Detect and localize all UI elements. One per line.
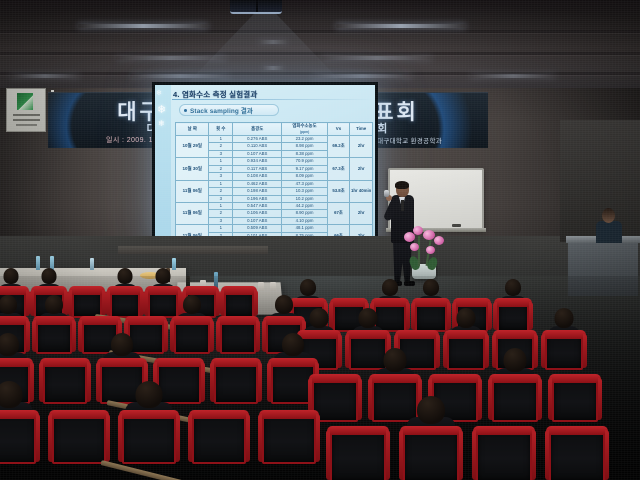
seat-side-right <box>201 362 205 402</box>
cell-absorbance: 0.198 ABS <box>233 188 282 195</box>
cell-time: 2hr <box>350 136 373 158</box>
seat-side-right <box>72 320 76 352</box>
seat-side-right <box>538 378 542 420</box>
col-header-count: 횟 수 <box>209 123 233 136</box>
cell-time: 1hr 40min <box>350 180 373 202</box>
seat-rim <box>327 426 389 435</box>
cell-date: 11월 06일 <box>176 180 209 202</box>
desk-cup-3 <box>270 282 276 291</box>
cell-date: 11월 06일 <box>176 202 209 224</box>
seat-rim <box>0 316 29 325</box>
seat-rim <box>444 330 488 339</box>
ceiling-projector <box>230 0 282 14</box>
seat-rim <box>171 316 213 325</box>
cell-concentration: 4.10 ppm <box>282 217 327 224</box>
seat-side-left <box>472 430 476 480</box>
seat-side-left <box>262 320 266 352</box>
seat-side-left <box>30 290 34 316</box>
ceiling-light-1 <box>78 24 208 28</box>
cell-vs: 69.2초 <box>327 136 350 158</box>
cell-count: 2 <box>209 165 233 172</box>
audience-head <box>457 308 476 328</box>
auditorium-seat <box>497 300 529 332</box>
auditorium-seat <box>36 318 72 354</box>
cell-absorbance: 0.547 ABS <box>233 202 282 209</box>
seat-rim <box>263 316 305 325</box>
seat-side-right <box>210 320 214 352</box>
seat-rim <box>546 426 608 435</box>
seat-side-left <box>39 362 43 402</box>
results-table: 날 짜 횟 수 흡광도 염화수소농도 (ppm) Vs Time 10월 29일… <box>175 122 373 248</box>
projection-screen: ❄ ❄ ❄ 4. 염화수소 측정 실험결과 Stack sampling 결과 … <box>152 82 378 254</box>
auditorium-seat <box>262 412 316 464</box>
seat-back <box>330 428 386 480</box>
ceiling-light-10 <box>262 66 284 70</box>
audience-head <box>282 333 304 356</box>
seat-side-right <box>256 320 260 352</box>
seat-rim <box>259 410 319 419</box>
seat-side-right <box>358 378 362 420</box>
audience-head <box>504 348 527 372</box>
audience-head <box>0 333 19 356</box>
bullet-dot-icon <box>184 109 187 112</box>
seat-back <box>549 428 605 480</box>
seat-rim <box>542 330 586 339</box>
audience-head <box>183 295 201 314</box>
ceiling <box>0 0 640 92</box>
control-podium <box>568 240 638 296</box>
seat-back <box>52 412 106 464</box>
seat-side-right <box>316 414 320 462</box>
seat-side-left <box>106 290 110 316</box>
seat-rim <box>473 426 535 435</box>
audience-head <box>382 279 398 296</box>
seat-side-left <box>32 320 36 352</box>
auditorium-seat <box>447 332 485 370</box>
seat-side-left <box>267 362 271 402</box>
ceiling-light-5 <box>130 74 230 78</box>
cell-date: 10월 30일 <box>176 158 209 180</box>
cell-count: 1 <box>209 225 233 232</box>
seat-side-right <box>406 302 410 330</box>
seat-rim <box>125 316 167 325</box>
cell-vs: 67초 <box>327 202 350 224</box>
auditorium-seat <box>492 376 538 422</box>
orchid-flower-4 <box>434 236 444 245</box>
table-row: 10월 29일10.276 ABS23.2 ppm69.2초2hr <box>176 136 373 143</box>
table-header-row: 날 짜 횟 수 흡광도 염화수소농도 (ppm) Vs Time <box>176 123 373 136</box>
cell-absorbance: 0.509 ABS <box>233 225 282 232</box>
seat-rim <box>183 286 219 295</box>
ceiling-shading <box>0 0 640 92</box>
cell-count: 1 <box>209 180 233 187</box>
seat-side-right <box>87 362 91 402</box>
seat-rim <box>268 358 318 367</box>
cell-concentration: 8.98 ppm <box>282 143 327 150</box>
seat-rim <box>107 286 143 295</box>
table-row: 11월 06일10.462 ABS47.3 ppm53.8초1hr 40min <box>176 180 373 187</box>
seat-side-left <box>545 430 549 480</box>
seat-rim <box>221 286 257 295</box>
whiteboard-marker-icon <box>452 224 461 227</box>
audience-head <box>42 268 57 284</box>
seat-rim <box>494 298 532 307</box>
cell-time: 2hr <box>350 158 373 180</box>
col-header-vs: Vs <box>327 123 350 136</box>
seat-side-right <box>386 430 390 480</box>
seat-side-left <box>548 378 552 420</box>
seat-side-right <box>246 414 250 462</box>
cell-count: 2 <box>209 210 233 217</box>
audience-head <box>45 295 63 314</box>
seat-rim <box>217 316 259 325</box>
snowflake-icon-3: ❄ <box>156 89 162 97</box>
orchid-stem-1 <box>418 236 420 266</box>
cell-concentration: 23.2 ppm <box>282 136 327 143</box>
cell-absorbance: 0.934 ABS <box>233 158 282 165</box>
seat-side-left <box>493 302 497 330</box>
cell-time: 2hr <box>350 202 373 224</box>
col-header-time: Time <box>350 123 373 136</box>
seat-side-right <box>605 430 609 480</box>
seat-rim <box>369 374 421 383</box>
cell-vs: 67.3초 <box>327 158 350 180</box>
orchid-flower-6 <box>426 246 435 254</box>
cell-concentration: 47.3 ppm <box>282 180 327 187</box>
audience-head <box>0 381 23 408</box>
slide-surface: ❄ ❄ ❄ 4. 염화수소 측정 실험결과 Stack sampling 결과 … <box>155 85 375 249</box>
auditorium-seat <box>220 318 256 354</box>
cell-concentration: 8.90 ppm <box>282 210 327 217</box>
seat-side-left <box>96 362 100 402</box>
auditorium-seat <box>174 318 210 354</box>
audience-head <box>118 268 133 284</box>
auditorium-seat <box>52 412 106 464</box>
seat-rim <box>412 298 450 307</box>
cell-count: 3 <box>209 150 233 157</box>
auditorium-seat <box>545 332 583 370</box>
seat-rim <box>395 330 439 339</box>
seat-rim <box>346 330 390 339</box>
auditorium-seat <box>110 288 140 318</box>
cell-absorbance: 0.196 ABS <box>233 195 282 202</box>
seat-rim <box>49 410 109 419</box>
cell-count: 3 <box>209 195 233 202</box>
seat-side-left <box>345 334 349 368</box>
seat-rim <box>493 330 537 339</box>
seat-rim <box>0 286 29 295</box>
screen-valance <box>118 246 268 254</box>
seat-side-left <box>326 430 330 480</box>
seat-side-right <box>485 334 489 368</box>
seat-side-left <box>78 320 82 352</box>
cell-concentration: 8.09 ppm <box>282 173 327 180</box>
table-row: 11월 06일10.547 ABS44.2 ppm67초2hr <box>176 202 373 209</box>
cell-absorbance: 0.462 ABS <box>233 180 282 187</box>
water-bottle-3 <box>90 258 94 270</box>
seat-rim <box>429 374 481 383</box>
audience-head <box>0 295 17 314</box>
auditorium-seat <box>403 428 459 480</box>
seat-side-left <box>118 414 122 462</box>
cell-count: 2 <box>209 188 233 195</box>
seat-side-left <box>368 378 372 420</box>
seat-back <box>0 412 36 464</box>
ceiling-light-3 <box>116 56 226 60</box>
podium-operator <box>596 208 622 240</box>
cell-absorbance: 0.107 ABS <box>233 217 282 224</box>
presenter-tie <box>401 200 404 211</box>
seat-side-right <box>459 430 463 480</box>
seat-rim <box>40 358 90 367</box>
podium-operator-body <box>596 221 622 243</box>
cell-absorbance: 0.117 ABS <box>233 165 282 172</box>
orchid-flower-2 <box>413 226 423 235</box>
cell-absorbance: 0.107 ABS <box>233 150 282 157</box>
cell-count: 1 <box>209 158 233 165</box>
seat-side-left <box>399 430 403 480</box>
cell-concentration: 8.38 ppm <box>282 150 327 157</box>
desk-cup-2 <box>258 282 264 291</box>
auditorium-seat <box>192 412 246 464</box>
table-row: 10월 30일10.934 ABS70.9 ppm67.3초2hr <box>176 158 373 165</box>
auditorium-seat <box>552 376 598 422</box>
audience-head <box>417 396 445 424</box>
seat-back <box>262 412 316 464</box>
auditorium-seat <box>415 300 447 332</box>
col-header-concentration: 염화수소농도 (ppm) <box>282 123 327 136</box>
seat-side-left <box>188 414 192 462</box>
seat-side-left <box>144 290 148 316</box>
seat-rim <box>400 426 462 435</box>
audience-head <box>156 268 171 284</box>
seat-side-right <box>338 334 342 368</box>
seat-side-right <box>176 414 180 462</box>
seat-rim <box>145 286 181 295</box>
seat-rim <box>31 286 67 295</box>
cell-concentration: 10.3 ppm <box>282 188 327 195</box>
poster-logo-icon <box>17 93 33 110</box>
seat-side-left <box>170 320 174 352</box>
ceiling-light-8 <box>10 74 80 78</box>
seat-rim <box>154 358 204 367</box>
microphone-icon <box>384 190 389 197</box>
cell-vs: 53.8초 <box>327 180 350 202</box>
cell-count: 1 <box>209 202 233 209</box>
seat-rim <box>0 358 33 367</box>
auditorium-seat <box>214 360 258 404</box>
cell-absorbance: 0.106 ABS <box>233 210 282 217</box>
cell-count: 3 <box>209 173 233 180</box>
auditorium-seat <box>224 288 254 318</box>
seat-side-left <box>220 290 224 316</box>
table-row: 11월 06일10.509 ABS48.1 ppm66초2hr <box>176 225 373 232</box>
seat-side-right <box>164 320 168 352</box>
auditorium-seat <box>0 412 36 464</box>
audience-head <box>359 308 378 328</box>
seat-back <box>403 428 459 480</box>
seat-side-left <box>411 302 415 330</box>
seat-side-right <box>258 362 262 402</box>
cell-date: 10월 29일 <box>176 136 209 158</box>
auditorium-photo: 대구대 발표회 대구 발표회 일시 : 2009. 11. 20 대구대학교 환… <box>0 0 640 480</box>
ceiling-light-9 <box>258 40 288 44</box>
seat-side-right <box>532 430 536 480</box>
seat-side-right <box>254 290 258 316</box>
cell-absorbance: 0.276 ABS <box>233 136 282 143</box>
seat-side-left <box>210 362 214 402</box>
audience-head <box>275 295 293 314</box>
seat-side-left <box>443 334 447 368</box>
ceiling-light-4 <box>322 56 432 60</box>
cell-count: 2 <box>209 143 233 150</box>
cell-concentration: 48.1 ppm <box>282 225 327 232</box>
seat-side-left <box>488 378 492 420</box>
seat-rim <box>330 298 368 307</box>
audience-head <box>384 348 407 372</box>
auditorium-seat <box>549 428 605 480</box>
seat-side-right <box>36 414 40 462</box>
cell-concentration: 10.2 ppm <box>282 195 327 202</box>
seat-side-left <box>48 414 52 462</box>
seat-rim <box>211 358 261 367</box>
col-header-date: 날 짜 <box>176 123 209 136</box>
audience-head <box>423 279 439 296</box>
cell-concentration: 70.9 ppm <box>282 158 327 165</box>
ceiling-light-2 <box>336 24 466 28</box>
seat-rim <box>79 316 121 325</box>
auditorium-seat <box>43 360 87 404</box>
seat-rim <box>371 298 409 307</box>
audience-head <box>111 333 133 356</box>
cell-absorbance: 0.108 ABS <box>233 173 282 180</box>
seat-side-right <box>106 414 110 462</box>
seat-side-right <box>529 302 533 330</box>
seat-rim <box>549 374 601 383</box>
cell-absorbance: 0.110 ABS <box>233 143 282 150</box>
seat-back <box>122 412 176 464</box>
seat-rim <box>69 286 105 295</box>
audience-head <box>136 381 163 408</box>
seat-rim <box>119 410 179 419</box>
seat-side-left <box>541 334 545 368</box>
seat-back <box>476 428 532 480</box>
ceiling-light-7 <box>470 74 556 78</box>
presenter-hair <box>395 181 409 189</box>
seat-rim <box>33 316 75 325</box>
seat-rim <box>0 410 39 419</box>
seat-rim <box>309 374 361 383</box>
audience-head <box>505 279 521 296</box>
audience-head <box>4 268 19 284</box>
wall-poster <box>6 88 46 132</box>
slide-title-rule <box>172 99 374 100</box>
audience-head <box>310 308 329 328</box>
cell-count: 3 <box>209 217 233 224</box>
snowflake-icon-2: ❄ <box>158 119 165 128</box>
seat-rim <box>489 374 541 383</box>
slide-bullet-text: Stack sampling 결과 <box>190 106 253 115</box>
seat-side-left <box>258 414 262 462</box>
auditorium-seat <box>122 412 176 464</box>
col-header-absorbance: 흡광도 <box>233 123 282 136</box>
seat-side-left <box>216 320 220 352</box>
auditorium-seat <box>330 428 386 480</box>
seat-rim <box>189 410 249 419</box>
seat-side-right <box>436 334 440 368</box>
snowflake-icon-1: ❄ <box>157 103 166 116</box>
audience-head <box>555 308 574 328</box>
cell-concentration: 44.2 ppm <box>282 202 327 209</box>
ceiling-light-6 <box>312 74 412 78</box>
seat-back <box>192 412 246 464</box>
podium-operator-head <box>602 208 615 223</box>
seat-side-right <box>488 302 492 330</box>
audience-head <box>300 279 316 296</box>
orchid-flower-5 <box>410 243 419 251</box>
seat-side-right <box>583 334 587 368</box>
banner-organization-label: 대구대학교 환경공학과 <box>377 135 442 145</box>
seat-rim <box>97 358 147 367</box>
cell-concentration: 9.17 ppm <box>282 165 327 172</box>
auditorium-seat <box>476 428 532 480</box>
seat-rim <box>453 298 491 307</box>
cell-count: 1 <box>209 136 233 143</box>
seat-side-right <box>598 378 602 420</box>
seat-side-right <box>478 378 482 420</box>
